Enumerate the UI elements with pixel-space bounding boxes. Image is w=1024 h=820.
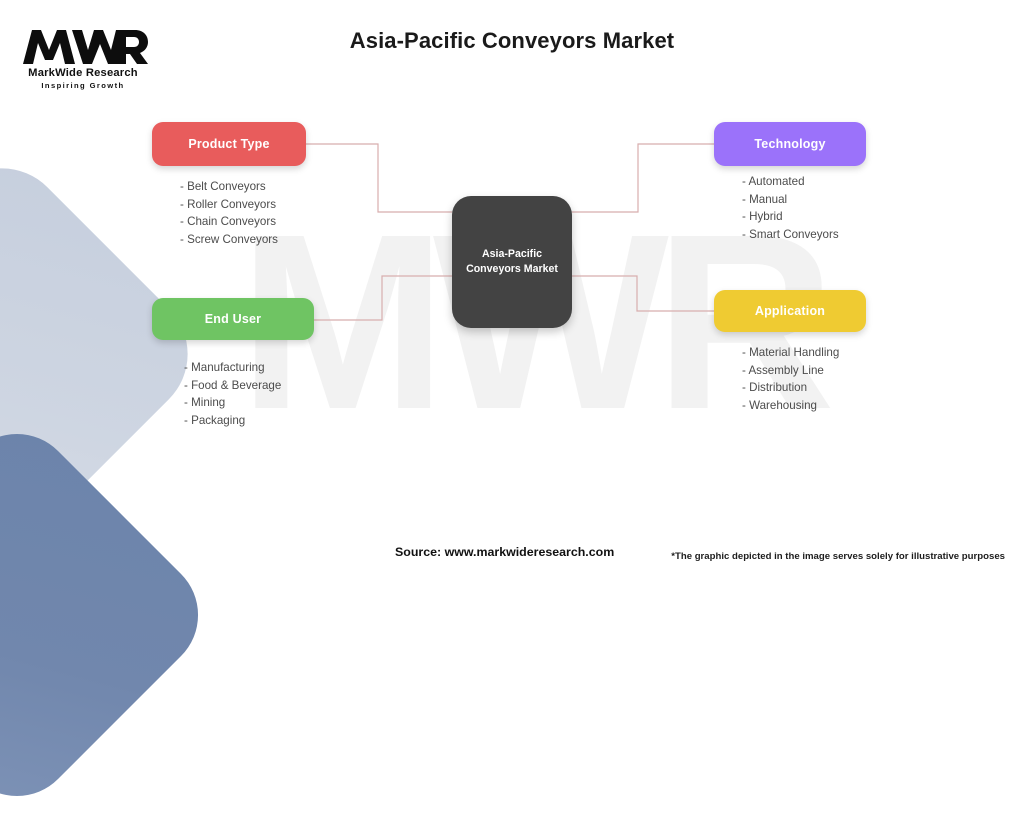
category-label-technology: Technology bbox=[754, 137, 825, 151]
category-box-end-user[interactable]: End User bbox=[152, 298, 314, 340]
source-label: Source: www.markwideresearch.com bbox=[395, 545, 614, 559]
list-item: - Warehousing bbox=[742, 397, 839, 415]
category-list-end-user: - Manufacturing - Food & Beverage - Mini… bbox=[184, 359, 281, 429]
category-list-technology: - Automated - Manual - Hybrid - Smart Co… bbox=[742, 173, 839, 243]
hub-node: Asia-Pacific Conveyors Market bbox=[452, 196, 572, 328]
list-item: - Smart Conveyors bbox=[742, 226, 839, 244]
connector-end-user bbox=[314, 276, 452, 320]
connector-product-type bbox=[306, 144, 452, 212]
category-label-product-type: Product Type bbox=[188, 137, 269, 151]
hub-line-1: Asia-Pacific bbox=[482, 247, 542, 262]
list-item: - Manual bbox=[742, 191, 839, 209]
connector-application bbox=[572, 276, 714, 311]
category-box-product-type[interactable]: Product Type bbox=[152, 122, 306, 166]
list-item: - Hybrid bbox=[742, 208, 839, 226]
category-list-product-type: - Belt Conveyors - Roller Conveyors - Ch… bbox=[180, 178, 278, 248]
list-item: - Material Handling bbox=[742, 344, 839, 362]
list-item: - Packaging bbox=[184, 412, 281, 430]
list-item: - Assembly Line bbox=[742, 362, 839, 380]
hub-line-2: Conveyors Market bbox=[466, 262, 558, 277]
list-item: - Food & Beverage bbox=[184, 377, 281, 395]
connector-technology bbox=[572, 144, 714, 212]
list-item: - Automated bbox=[742, 173, 839, 191]
category-label-application: Application bbox=[755, 304, 825, 318]
infographic-canvas: MWR MarkWide Research Inspiring Growth A… bbox=[0, 0, 1024, 576]
disclaimer-label: *The graphic depicted in the image serve… bbox=[671, 551, 1005, 562]
list-item: - Screw Conveyors bbox=[180, 231, 278, 249]
list-item: - Roller Conveyors bbox=[180, 196, 278, 214]
list-item: - Mining bbox=[184, 394, 281, 412]
list-item: - Distribution bbox=[742, 379, 839, 397]
category-label-end-user: End User bbox=[205, 312, 261, 326]
category-box-application[interactable]: Application bbox=[714, 290, 866, 332]
list-item: - Chain Conveyors bbox=[180, 213, 278, 231]
category-box-technology[interactable]: Technology bbox=[714, 122, 866, 166]
category-list-application: - Material Handling - Assembly Line - Di… bbox=[742, 344, 839, 414]
list-item: - Belt Conveyors bbox=[180, 178, 278, 196]
list-item: - Manufacturing bbox=[184, 359, 281, 377]
